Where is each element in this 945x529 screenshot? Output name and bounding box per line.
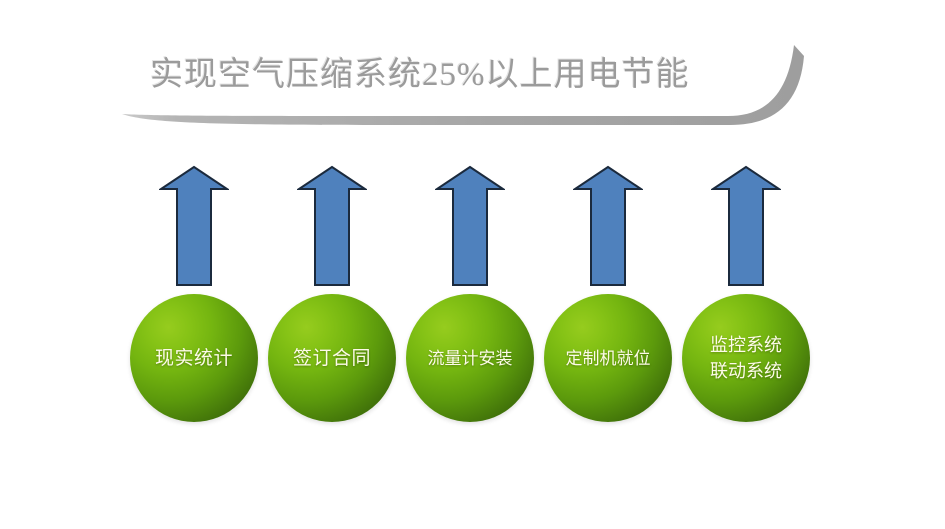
page-title: 实现空气压缩系统25%以上用电节能 <box>150 50 750 100</box>
step-circle-4[interactable]: 定制机就位 <box>544 294 672 422</box>
step-circle-1[interactable]: 现实统计 <box>130 294 258 422</box>
step-circle-3[interactable]: 流量计安装 <box>406 294 534 422</box>
step-label-2: 签订合同 <box>289 346 375 371</box>
process-step-3[interactable]: 流量计安装 <box>406 165 534 425</box>
arrow-up-icon <box>435 165 505 287</box>
arrow-up-icon <box>159 165 229 287</box>
arrow-up-icon <box>573 165 643 287</box>
slide-canvas: 实现空气压缩系统25%以上用电节能 现实统计 签订合同 <box>0 0 945 529</box>
step-circle-2[interactable]: 签订合同 <box>268 294 396 422</box>
process-step-5[interactable]: 监控系统 联动系统 <box>682 165 810 425</box>
arrow-up-icon <box>297 165 367 287</box>
step-label-3: 流量计安装 <box>424 346 517 371</box>
arrow-up-icon <box>711 165 781 287</box>
process-step-4[interactable]: 定制机就位 <box>544 165 672 425</box>
process-steps-row: 现实统计 签订合同 流量计安装 定 <box>130 165 810 425</box>
process-step-1[interactable]: 现实统计 <box>130 165 258 425</box>
step-circle-5[interactable]: 监控系统 联动系统 <box>682 294 810 422</box>
process-step-2[interactable]: 签订合同 <box>268 165 396 425</box>
step-label-1: 现实统计 <box>151 346 237 371</box>
step-label-4: 定制机就位 <box>562 346 655 371</box>
step-label-5: 监控系统 联动系统 <box>706 332 786 384</box>
